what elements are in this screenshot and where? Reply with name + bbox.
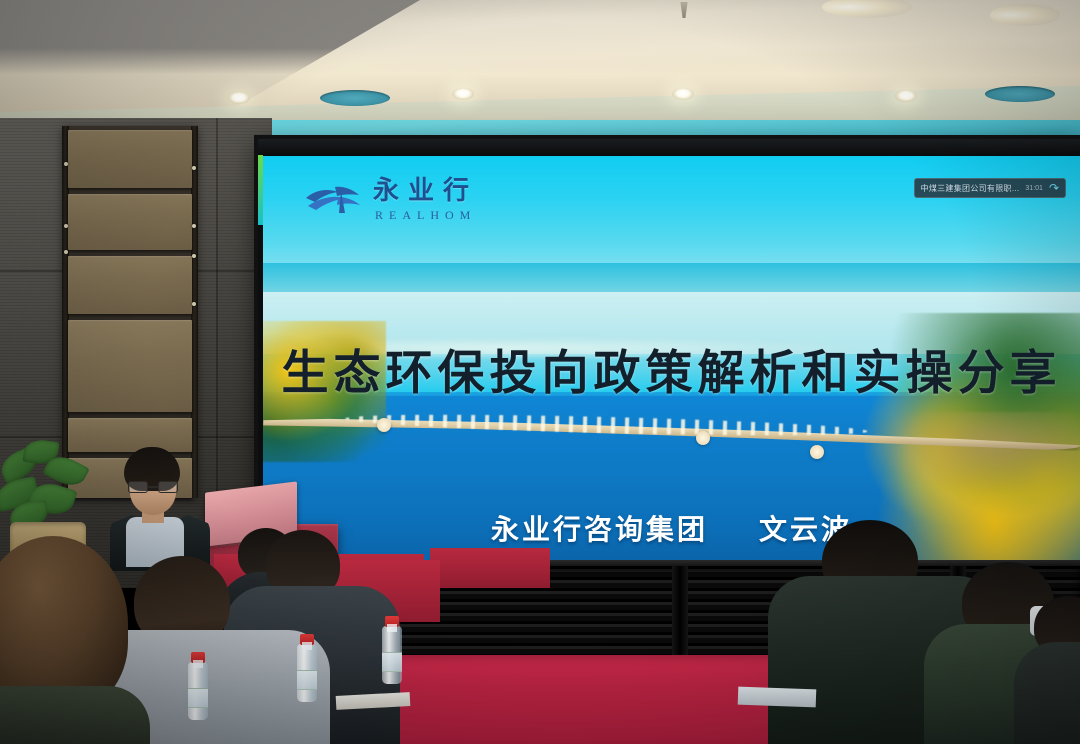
desk-paper bbox=[738, 687, 817, 708]
ceiling-vent-icon bbox=[985, 86, 1055, 102]
led-presentation-screen[interactable]: 永业行 REALHOM 中煤三建集团公司有限职... 31:01 ↷ 生态环保投… bbox=[258, 139, 1080, 569]
glasses-icon bbox=[128, 481, 178, 493]
attendee-body bbox=[0, 686, 150, 744]
panel-stud bbox=[64, 162, 68, 166]
list-item bbox=[0, 536, 160, 744]
screen-bezel bbox=[258, 139, 1080, 156]
water-bottle bbox=[188, 662, 208, 720]
slide-shore-right bbox=[868, 412, 1080, 495]
slide-title: 生态环保投向政策解析和实操分享 bbox=[263, 334, 1080, 403]
panel-tile bbox=[68, 194, 192, 250]
list-item bbox=[1026, 596, 1080, 744]
conference-photo-scene: 永业行 REALHOM 中煤三建集团公司有限职... 31:01 ↷ 生态环保投… bbox=[0, 0, 1080, 744]
restore-arrow-icon[interactable]: ↷ bbox=[1049, 182, 1059, 194]
slide-causeway-pylon bbox=[696, 431, 710, 445]
panel-stud bbox=[192, 166, 196, 170]
share-elapsed-time: 31:01 bbox=[1025, 185, 1043, 192]
panel-stud bbox=[192, 224, 196, 228]
ceiling-spotlight-pair-icon bbox=[990, 4, 1060, 26]
brand-name-en: REALHOM bbox=[373, 209, 478, 221]
presentation-slide[interactable]: 永业行 REALHOM 中煤三建集团公司有限职... 31:01 ↷ 生态环保投… bbox=[263, 156, 1080, 569]
panel-stud bbox=[192, 302, 196, 306]
brand-name-cn: 永业行 bbox=[373, 178, 478, 204]
stage-post bbox=[672, 566, 688, 662]
share-session-label: 中煤三建集团公司有限职... bbox=[921, 183, 1020, 194]
panel-stud bbox=[64, 250, 68, 254]
screen-share-toolbar[interactable]: 中煤三建集团公司有限职... 31:01 ↷ bbox=[914, 178, 1066, 198]
ceiling-downlight-icon bbox=[895, 90, 917, 102]
panel-tile bbox=[68, 320, 192, 412]
brand-logo: 永业行 REALHOM bbox=[305, 178, 478, 221]
yh-swoosh-logo-icon bbox=[305, 183, 363, 217]
water-bottle bbox=[297, 644, 317, 702]
audience-desk bbox=[430, 548, 550, 588]
ceiling-downlight-icon bbox=[228, 92, 250, 104]
panel-stud bbox=[192, 254, 196, 258]
panel-rail bbox=[191, 126, 198, 498]
ceiling-downlight-icon bbox=[672, 88, 694, 100]
attendee-body bbox=[1014, 642, 1080, 744]
panel-stud bbox=[64, 224, 68, 228]
ceiling-vent-icon bbox=[320, 90, 390, 106]
ceiling-downlight-icon bbox=[452, 88, 474, 100]
panel-tile bbox=[68, 256, 192, 314]
water-bottle bbox=[382, 626, 402, 684]
panel-tile bbox=[68, 130, 192, 188]
